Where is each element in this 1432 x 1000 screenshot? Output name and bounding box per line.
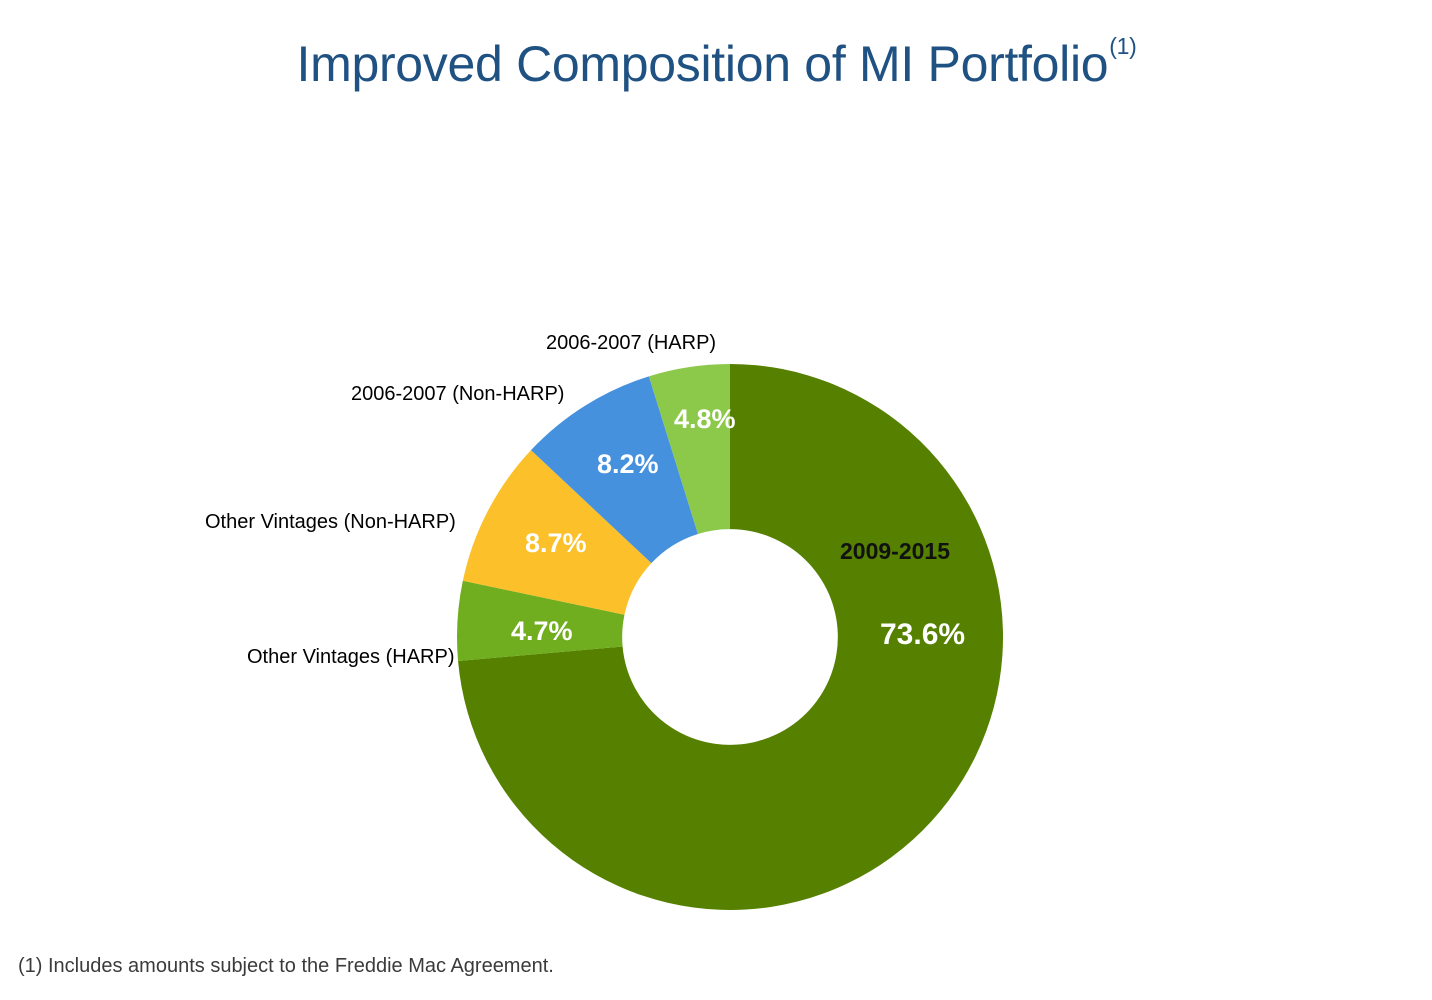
page-title: Improved Composition of MI Portfolio(1) (297, 38, 1136, 91)
page-title-text: Improved Composition of MI Portfolio (297, 36, 1109, 92)
title-block: Improved Composition of MI Portfolio(1) (0, 38, 1432, 91)
slice-value-other-vintages-non-harp: 8.7% (525, 528, 587, 559)
slice-value-2009-2015: 73.6% (880, 618, 965, 652)
slice-label-other-vintages-harp: Other Vintages (HARP) (247, 646, 455, 669)
slice-label-2006-2007-non-harp: 2006-2007 (Non-HARP) (351, 383, 564, 406)
slice-label-other-vintages-non-harp: Other Vintages (Non-HARP) (205, 511, 456, 534)
page-title-footnote-marker: (1) (1109, 33, 1136, 59)
slice-value-other-vintages-harp: 4.7% (511, 616, 573, 647)
footnote: (1) Includes amounts subject to the Fred… (18, 955, 554, 978)
slice-label-2006-2007-harp: 2006-2007 (HARP) (546, 332, 716, 355)
slice-value-2006-2007-harp: 4.8% (674, 404, 736, 435)
slice-label-2009-2015: 2009-2015 (840, 538, 950, 565)
slice-value-2006-2007-non-harp: 8.2% (597, 449, 659, 480)
slide-canvas: Improved Composition of MI Portfolio(1) … (0, 0, 1432, 1000)
